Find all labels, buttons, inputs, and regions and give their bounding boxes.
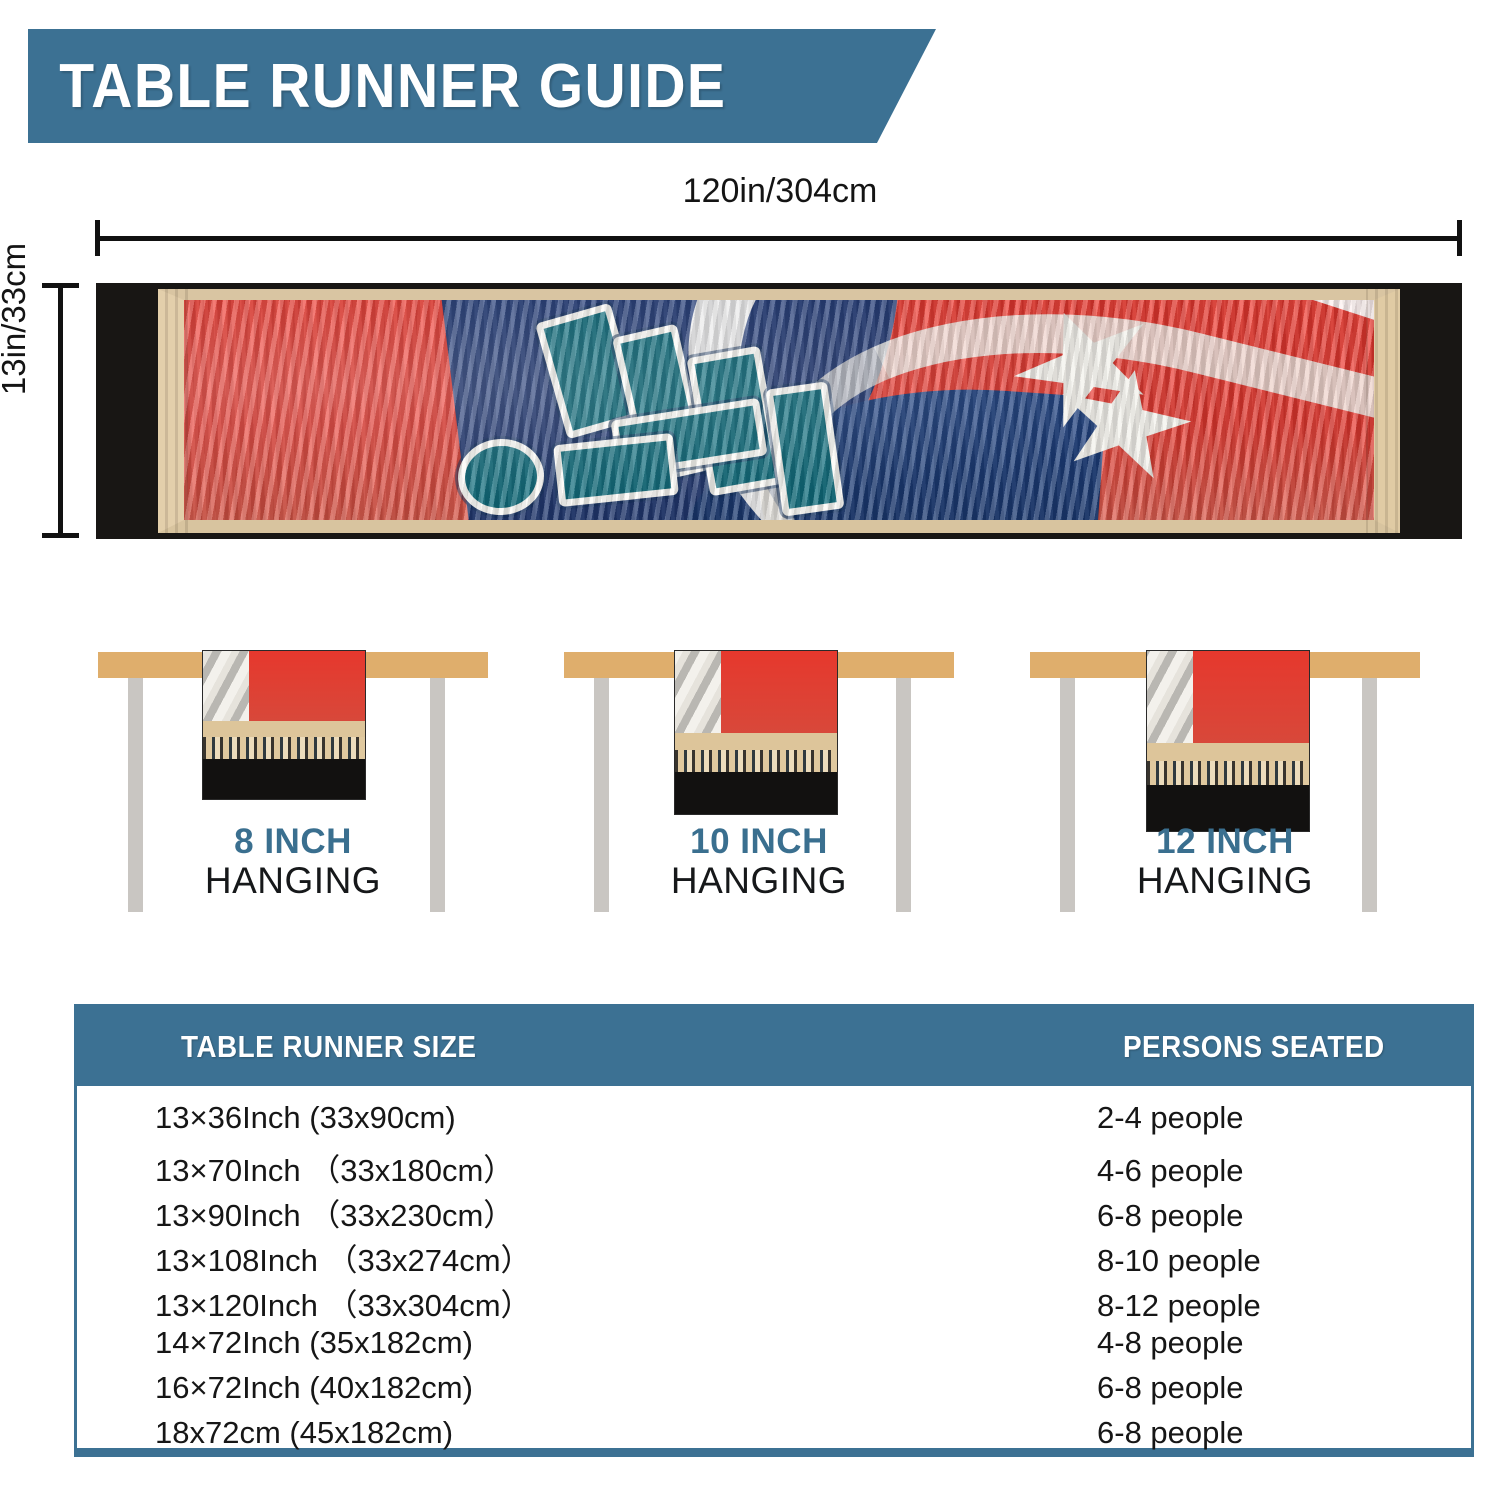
cell-persons: 4-8 people [1097, 1325, 1244, 1361]
table-row: 13×70Inch （33x180cm） 4-6 people [77, 1145, 1471, 1190]
hanging-panel-10-inch: 10 INCH HANGING [556, 628, 1022, 928]
product-runner-image [96, 283, 1462, 539]
cell-size: 13×36Inch (33x90cm) [77, 1100, 1097, 1136]
table-row: 16×72Inch (40x182cm) 6-8 people [77, 1370, 1471, 1415]
page-title: TABLE RUNNER GUIDE [28, 51, 726, 122]
hanging-word-label: HANGING [1022, 861, 1428, 902]
height-dimension-label: 13in/33cm [0, 209, 33, 429]
draped-runner [674, 650, 838, 815]
hanging-length-label: 8 INCH [90, 824, 496, 861]
hanging-length-label: 10 INCH [556, 824, 962, 861]
table-row: 18x72cm (45x182cm) 6-8 people [77, 1415, 1471, 1460]
cell-persons: 6-8 people [1097, 1198, 1244, 1234]
cell-persons: 8-12 people [1097, 1288, 1261, 1324]
hanging-panels: 8 INCH HANGING 10 INCH HANGING [90, 628, 1490, 928]
cell-size: 13×70Inch （33x180cm） [77, 1145, 1097, 1190]
draped-runner [1146, 650, 1310, 832]
panel-caption-12-inch: 12 INCH HANGING [1022, 824, 1428, 901]
hanging-panel-8-inch: 8 INCH HANGING [90, 628, 556, 928]
hanging-length-label: 12 INCH [1022, 824, 1428, 861]
drape-weathered-section [203, 721, 365, 761]
cell-persons: 6-8 people [1097, 1415, 1244, 1451]
table-row: 13×108Inch （33x274cm） 8-10 people [77, 1235, 1471, 1280]
table-runner-guide-infographic: TABLE RUNNER GUIDE 120in/304cm 13in/33cm [0, 0, 1493, 1500]
size-table: TABLE RUNNER SIZE PERSONS SEATED 13×36In… [74, 1004, 1474, 1457]
hanging-word-label: HANGING [90, 861, 496, 902]
width-dimension-line [95, 236, 1462, 241]
drape-weathered-section [675, 733, 837, 775]
cell-size: 14×72Inch (35x182cm) [77, 1325, 1097, 1361]
drape-weathered-section [1147, 743, 1309, 787]
drape-stripe-section [675, 651, 721, 733]
size-table-body: 13×36Inch (33x90cm) 2-4 people 13×70Inch… [77, 1086, 1471, 1460]
cell-persons: 2-4 people [1097, 1100, 1244, 1136]
drape-stripe-section [1147, 651, 1193, 743]
table-row: 13×90Inch （33x230cm） 6-8 people [77, 1190, 1471, 1235]
column-header-size: TABLE RUNNER SIZE [181, 1029, 476, 1065]
draped-runner [202, 650, 366, 800]
hanging-panel-12-inch: 12 INCH HANGING [1022, 628, 1488, 928]
cell-size: 18x72cm (45x182cm) [77, 1415, 1097, 1451]
width-dimension-label: 120in/304cm [0, 172, 1493, 211]
cell-size: 16×72Inch (40x182cm) [77, 1370, 1097, 1406]
cell-size: 13×120Inch （33x304cm） [77, 1280, 1097, 1325]
drape-black-section [203, 759, 365, 799]
panel-caption-10-inch: 10 INCH HANGING [556, 824, 962, 901]
table-row: 13×36Inch (33x90cm) 2-4 people [77, 1100, 1471, 1145]
runner-artwork [158, 289, 1400, 533]
table-row: 13×120Inch （33x304cm） 8-12 people [77, 1280, 1471, 1325]
drape-stripe-section [203, 651, 249, 721]
artwork-border-grit [158, 289, 1400, 533]
cell-persons: 6-8 people [1097, 1370, 1244, 1406]
table-row: 14×72Inch (35x182cm) 4-8 people [77, 1325, 1471, 1370]
drape-black-section [675, 772, 837, 814]
cell-persons: 8-10 people [1097, 1243, 1261, 1279]
panel-caption-8-inch: 8 INCH HANGING [90, 824, 496, 901]
cell-persons: 4-6 people [1097, 1153, 1244, 1189]
height-dimension-line [58, 283, 63, 538]
hanging-word-label: HANGING [556, 861, 962, 902]
header-banner: TABLE RUNNER GUIDE [28, 29, 936, 143]
column-header-persons: PERSONS SEATED [1123, 1029, 1385, 1065]
cell-size: 13×90Inch （33x230cm） [77, 1190, 1097, 1235]
size-table-header: TABLE RUNNER SIZE PERSONS SEATED [77, 1007, 1471, 1086]
cell-size: 13×108Inch （33x274cm） [77, 1235, 1097, 1280]
